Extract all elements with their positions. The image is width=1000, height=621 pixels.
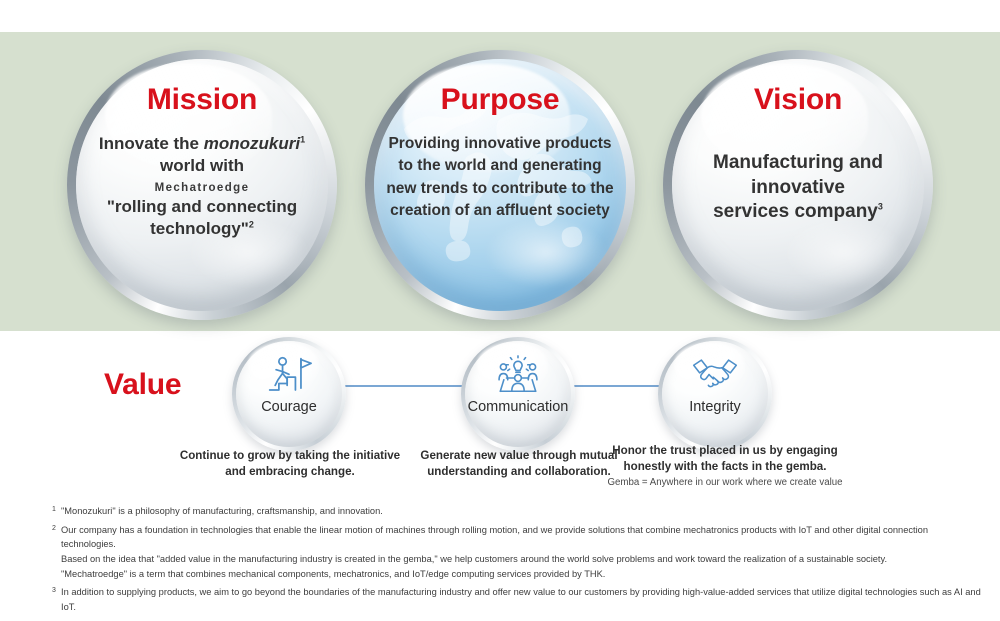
value-section-title: Value [104, 368, 181, 402]
vision-line-3-text: services company [713, 201, 878, 222]
vision-line-1: Manufacturing and [680, 151, 916, 176]
footnote-2-line-3: "Mechatroedge" is a term that combines m… [61, 567, 982, 582]
footnote-1-body: "Monozukuri" is a philosophy of manufact… [61, 504, 982, 519]
people-meeting-lightbulb-icon [495, 355, 541, 395]
mission-line-2: world with [84, 155, 320, 177]
footnote-1-line-1: "Monozukuri" is a philosophy of manufact… [61, 504, 982, 519]
footnote-3-line-1: In addition to supplying products, we ai… [61, 585, 982, 614]
mission-footnote-ref-2: 2 [249, 219, 254, 229]
mission-footnote-ref-1: 1 [300, 134, 305, 144]
mission-mechatroedge-label: Mechatroedge [84, 181, 320, 196]
mission-line-1-text: Innovate the [99, 134, 204, 153]
footnote-2: 2 Our company has a foundation in techno… [52, 523, 982, 582]
mission-line-4-text: technology" [150, 219, 249, 238]
value-label-communication: Communication [468, 399, 569, 415]
footnotes-section: 1 "Monozukuri" is a philosophy of manufa… [52, 504, 982, 619]
mission-sphere: Mission Innovate the monozukuri1 world w… [67, 50, 337, 320]
vision-sphere: Vision Manufacturing and innovative serv… [663, 50, 933, 320]
footnote-2-line-1: Our company has a foundation in technolo… [61, 523, 982, 552]
purpose-sphere: Purpose Providing innovative products to… [365, 50, 635, 320]
value-label-courage: Courage [261, 399, 317, 415]
value-description-courage: Continue to grow by taking the initiativ… [176, 448, 404, 479]
mission-body: Innovate the monozukuri1 world with Mech… [84, 133, 320, 240]
handshake-icon [692, 355, 738, 395]
mission-heading: Mission [147, 85, 257, 115]
vision-footnote-ref-3: 3 [878, 202, 883, 212]
vision-heading: Vision [754, 85, 842, 115]
footnote-3: 3 In addition to supplying products, we … [52, 585, 982, 614]
footnote-3-marker: 3 [52, 585, 61, 614]
footnote-2-line-2: Based on the idea that "added value in t… [61, 552, 982, 567]
mission-line-1: Innovate the monozukuri1 [84, 133, 320, 155]
mission-monozukuri-term: monozukuri [204, 134, 300, 153]
footnote-2-marker: 2 [52, 523, 61, 582]
value-sphere-integrity[interactable]: Integrity [658, 337, 772, 451]
purpose-heading: Purpose [441, 85, 560, 115]
purpose-body: Providing innovative products to the wor… [383, 133, 617, 223]
footnote-3-body: In addition to supplying products, we ai… [61, 585, 982, 614]
connector-courage-communication [345, 385, 475, 387]
footnote-2-body: Our company has a foundation in technolo… [61, 523, 982, 582]
value-label-integrity: Integrity [689, 399, 741, 415]
vision-line-3: services company3 [680, 200, 916, 225]
gemba-definition-note: Gemba = Anywhere in our work where we cr… [592, 476, 858, 489]
vision-body: Manufacturing and innovative services co… [680, 151, 916, 225]
footnote-1: 1 "Monozukuri" is a philosophy of manufa… [52, 504, 982, 519]
mission-line-3: "rolling and connecting [84, 196, 320, 218]
value-sphere-courage[interactable]: Courage [232, 337, 346, 451]
footnote-1-marker: 1 [52, 504, 61, 519]
value-sphere-communication[interactable]: Communication [461, 337, 575, 451]
vision-line-2: innovative [680, 176, 916, 201]
person-climbing-to-flag-icon [266, 355, 312, 395]
mission-line-4: technology"2 [84, 218, 320, 240]
